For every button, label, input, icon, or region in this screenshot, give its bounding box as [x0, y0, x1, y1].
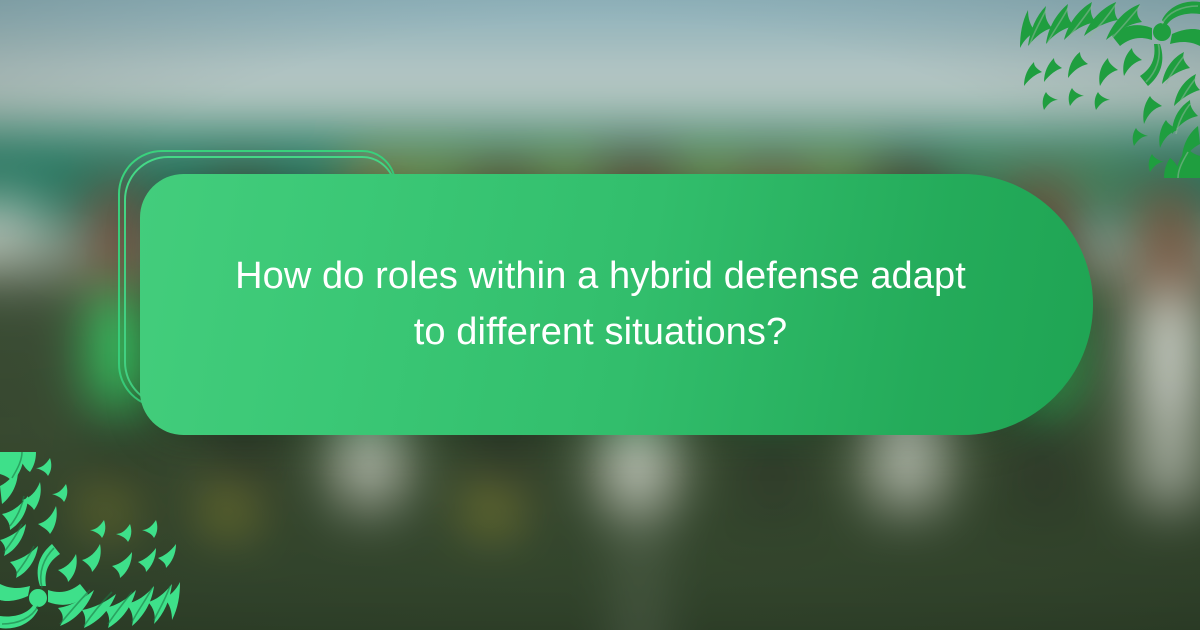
question-card: How do roles within a hybrid defense ada… — [118, 150, 1093, 435]
question-card-banner: How do roles within a hybrid defense ada… — [0, 0, 1200, 630]
question-text: How do roles within a hybrid defense ada… — [218, 249, 983, 360]
card-body: How do roles within a hybrid defense ada… — [140, 174, 1093, 435]
